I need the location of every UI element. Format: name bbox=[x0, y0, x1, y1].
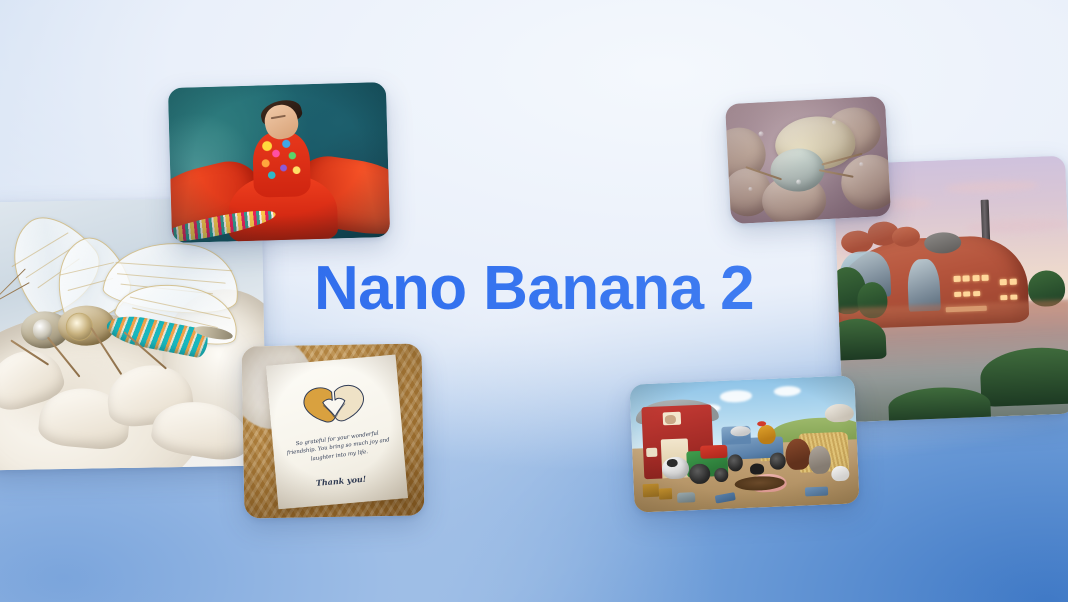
gallery-card-dancer[interactable] bbox=[168, 82, 390, 243]
gallery-card-thank-you[interactable]: So grateful for your wonderful friendshi… bbox=[242, 343, 425, 518]
thank-you-vignette bbox=[242, 343, 425, 518]
gallery-card-farm[interactable] bbox=[629, 375, 859, 512]
hero-background: So grateful for your wonderful friendshi… bbox=[0, 0, 1068, 602]
dancer-scene bbox=[168, 82, 390, 243]
farm-vignette bbox=[629, 375, 859, 512]
gallery-card-beetle[interactable] bbox=[725, 96, 891, 224]
thank-you-scene: So grateful for your wonderful friendshi… bbox=[242, 343, 425, 518]
farm-scene bbox=[629, 375, 859, 512]
beetle-scene bbox=[725, 96, 891, 224]
beetle-vignette bbox=[725, 96, 891, 224]
page-title: Nano Banana 2 bbox=[0, 258, 1068, 320]
dancer-vignette bbox=[168, 82, 390, 243]
